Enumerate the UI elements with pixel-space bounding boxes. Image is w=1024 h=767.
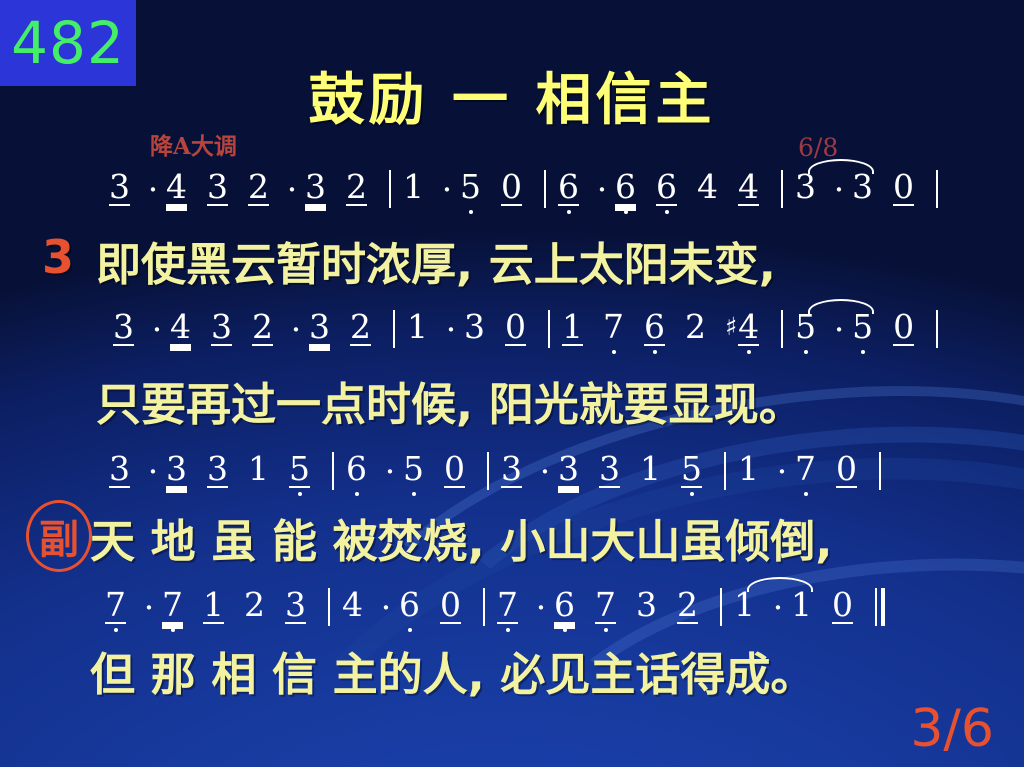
decorative-swoosh xyxy=(206,376,1024,767)
note-glyph: 2 xyxy=(345,170,368,204)
note-glyph: 4 xyxy=(165,170,188,204)
note: 1 xyxy=(733,588,756,622)
note-glyph: 7 xyxy=(794,452,817,486)
note-glyph: 3 xyxy=(206,170,229,204)
note: 3 xyxy=(210,310,233,344)
sharp-accidental: ♯ xyxy=(725,312,737,341)
note-glyph: 1 xyxy=(733,588,756,622)
chorus-marker: 副 xyxy=(26,500,92,572)
note: 5 xyxy=(851,310,874,344)
note: 4 xyxy=(696,170,719,204)
note: 6 xyxy=(614,170,637,204)
note: 6 xyxy=(643,310,666,344)
note: 4 xyxy=(341,588,364,622)
note-glyph: 3 xyxy=(112,310,135,344)
note-glyph: 6 xyxy=(655,170,678,204)
note: 5 xyxy=(459,170,482,204)
augmentation-dot: · xyxy=(288,310,304,349)
note: 1 xyxy=(406,310,429,344)
note: 3 xyxy=(794,170,817,204)
augmentation-dot: · xyxy=(382,452,398,491)
note: 3 xyxy=(308,310,331,344)
note: 7 xyxy=(602,310,625,344)
note-glyph: 5 xyxy=(288,452,311,486)
note-glyph: 0 xyxy=(892,170,915,204)
note-glyph: 7 xyxy=(496,588,519,622)
note-glyph: 3 xyxy=(206,452,229,486)
note: 1 xyxy=(402,170,425,204)
barline xyxy=(724,452,726,490)
note-glyph: 3 xyxy=(598,452,621,486)
note-glyph: 2 xyxy=(251,310,274,344)
hymn-slide: 482 鼓励 一 相信主 降A大调 6/8 3·432·321·506·6644… xyxy=(0,0,1024,767)
note-glyph: 1 xyxy=(247,452,270,486)
lyric-text: 但 那 相 信 主的人, 必见主话得成。 xyxy=(90,648,815,701)
music-system-1: 3·432·321·506·66443·30 xyxy=(0,170,1024,228)
note: 0 xyxy=(443,452,466,486)
note: 1 xyxy=(737,452,760,486)
note: 2 xyxy=(251,310,274,344)
note: 3 xyxy=(463,310,486,344)
note: 6 xyxy=(398,588,421,622)
note-glyph: 6 xyxy=(614,170,637,204)
note: 5 xyxy=(288,452,311,486)
page-title: 鼓励 一 相信主 xyxy=(0,55,1024,136)
note: 7 xyxy=(594,588,617,622)
augmentation-dot: · xyxy=(145,452,161,491)
note: 3 xyxy=(851,170,874,204)
note-glyph: 3 xyxy=(304,170,327,204)
augmentation-dot: · xyxy=(284,170,300,209)
note: 3 xyxy=(165,452,188,486)
note: 3 xyxy=(206,170,229,204)
notation-row: 3·432·321·506·66443·30 xyxy=(0,170,1024,228)
augmentation-dot: · xyxy=(594,170,610,209)
note: 3 xyxy=(108,170,131,204)
lyric-row: 天 地 虽 能 被焚烧, 小山大山虽倾倒, xyxy=(90,505,833,570)
note-glyph: 0 xyxy=(500,170,523,204)
note-glyph: 3 xyxy=(210,310,233,344)
barline xyxy=(389,170,391,208)
note-glyph: 0 xyxy=(892,310,915,344)
note: 5 xyxy=(794,310,817,344)
note-glyph: 3 xyxy=(165,452,188,486)
note: 3 xyxy=(304,170,327,204)
note-glyph: 1 xyxy=(202,588,225,622)
note: 1 xyxy=(561,310,584,344)
note-glyph: 1 xyxy=(790,588,813,622)
note-glyph: 0 xyxy=(439,588,462,622)
note-glyph: 1 xyxy=(639,452,662,486)
augmentation-dot: · xyxy=(831,170,847,209)
note-glyph: 5 xyxy=(794,310,817,344)
note-glyph: 3 xyxy=(794,170,817,204)
barline xyxy=(332,452,334,490)
notation-row: 3·33156·503·33151·70 xyxy=(0,452,1024,510)
note: 1 xyxy=(247,452,270,486)
note: 3 xyxy=(112,310,135,344)
barline xyxy=(548,310,550,348)
note: 1 xyxy=(639,452,662,486)
augmentation-dot: · xyxy=(537,452,553,491)
note-glyph: 3 xyxy=(284,588,307,622)
augmentation-dot: · xyxy=(831,310,847,349)
final-barline xyxy=(875,588,885,626)
note-glyph: 3 xyxy=(500,452,523,486)
note: 2 xyxy=(349,310,372,344)
note-glyph: 5 xyxy=(680,452,703,486)
note: 7 xyxy=(794,452,817,486)
note: 0 xyxy=(439,588,462,622)
note: ♯4 xyxy=(725,310,760,344)
note-glyph: 5 xyxy=(459,170,482,204)
note: 4 xyxy=(737,170,760,204)
note-glyph: 5 xyxy=(402,452,425,486)
note: 0 xyxy=(504,310,527,344)
note-glyph: 2 xyxy=(349,310,372,344)
note: 0 xyxy=(892,310,915,344)
note-glyph: 6 xyxy=(345,452,368,486)
note-glyph: 7 xyxy=(594,588,617,622)
note-glyph: 3 xyxy=(851,170,874,204)
time-signature-label: 6/8 xyxy=(798,133,838,162)
barline xyxy=(487,452,489,490)
note-glyph: 7 xyxy=(161,588,184,622)
note: 4 xyxy=(165,170,188,204)
note-glyph: 1 xyxy=(561,310,584,344)
barline xyxy=(781,170,783,208)
augmentation-dot: · xyxy=(774,452,790,491)
note: 3 xyxy=(598,452,621,486)
note-glyph: 7 xyxy=(104,588,127,622)
note: 0 xyxy=(500,170,523,204)
note-glyph: 3 xyxy=(108,452,131,486)
augmentation-dot: · xyxy=(149,310,165,349)
note-glyph: 4 xyxy=(341,588,364,622)
barline xyxy=(328,588,330,626)
note-glyph: 0 xyxy=(504,310,527,344)
note-glyph: 6 xyxy=(643,310,666,344)
note-glyph: 2 xyxy=(243,588,266,622)
note-glyph: 2 xyxy=(684,310,707,344)
barline xyxy=(879,452,881,490)
note: 6 xyxy=(553,588,576,622)
note: 3 xyxy=(500,452,523,486)
note: 0 xyxy=(835,452,858,486)
lyric-row: 只要再过一点时候, 阳光就要显现。 xyxy=(96,368,804,433)
music-system-3: 3·33156·503·33151·70 xyxy=(0,452,1024,510)
note-glyph: 2 xyxy=(676,588,699,622)
note-glyph: 3 xyxy=(308,310,331,344)
music-system-2: 3·432·321·301762♯45·50 xyxy=(0,310,1024,368)
note: 6 xyxy=(557,170,580,204)
note-glyph: 3 xyxy=(463,310,486,344)
note: 5 xyxy=(402,452,425,486)
lyric-row: 但 那 相 信 主的人, 必见主话得成。 xyxy=(90,638,815,703)
note: 3 xyxy=(206,452,229,486)
note-glyph: 4 xyxy=(696,170,719,204)
note-glyph: 0 xyxy=(443,452,466,486)
note-glyph: 4 xyxy=(737,170,760,204)
note-glyph: 4 xyxy=(737,310,760,344)
note-glyph: 7 xyxy=(602,310,625,344)
note: 2 xyxy=(684,310,707,344)
note: 0 xyxy=(831,588,854,622)
note-glyph: 1 xyxy=(737,452,760,486)
note: 3 xyxy=(284,588,307,622)
note-glyph: 3 xyxy=(557,452,580,486)
note-glyph: 1 xyxy=(402,170,425,204)
barline xyxy=(936,170,938,208)
note: 7 xyxy=(161,588,184,622)
augmentation-dot: · xyxy=(378,588,394,627)
note-glyph: 6 xyxy=(398,588,421,622)
note: 3 xyxy=(557,452,580,486)
lyric-text: 只要再过一点时候, 阳光就要显现。 xyxy=(96,378,804,431)
augmentation-dot: · xyxy=(533,588,549,627)
note: 2 xyxy=(243,588,266,622)
note-glyph: 4 xyxy=(169,310,192,344)
lyric-row: 3 即使黑云暂时浓厚, 云上太阳未变, xyxy=(96,228,776,293)
note-glyph: 5 xyxy=(851,310,874,344)
lyric-text: 天 地 虽 能 被焚烧, 小山大山虽倾倒, xyxy=(90,515,833,568)
note: 6 xyxy=(655,170,678,204)
note: 3 xyxy=(108,452,131,486)
note-glyph: 6 xyxy=(557,170,580,204)
note: 0 xyxy=(892,170,915,204)
note: 1 xyxy=(202,588,225,622)
notation-row: 3·432·321·301762♯45·50 xyxy=(0,310,1024,368)
note: 7 xyxy=(496,588,519,622)
note-glyph: 6 xyxy=(553,588,576,622)
key-signature-label: 降A大调 xyxy=(150,127,237,161)
augmentation-dot: · xyxy=(443,310,459,349)
note-glyph: 0 xyxy=(835,452,858,486)
note: 2 xyxy=(345,170,368,204)
barline xyxy=(781,310,783,348)
note-glyph: 2 xyxy=(247,170,270,204)
lyric-text: 即使黑云暂时浓厚, 云上太阳未变, xyxy=(96,238,776,291)
note-glyph: 1 xyxy=(406,310,429,344)
note: 7 xyxy=(104,588,127,622)
note: 2 xyxy=(247,170,270,204)
note-glyph: 3 xyxy=(108,170,131,204)
augmentation-dot: · xyxy=(770,588,786,627)
verse-number: 3 xyxy=(42,230,74,284)
note: 5 xyxy=(680,452,703,486)
augmentation-dot: · xyxy=(141,588,157,627)
page-indicator: 3/6 xyxy=(910,699,994,759)
augmentation-dot: · xyxy=(439,170,455,209)
note: 2 xyxy=(676,588,699,622)
barline xyxy=(544,170,546,208)
barline xyxy=(720,588,722,626)
note-glyph: 0 xyxy=(831,588,854,622)
barline xyxy=(936,310,938,348)
barline xyxy=(393,310,395,348)
note: 3 xyxy=(635,588,658,622)
note-glyph: 3 xyxy=(635,588,658,622)
note: 4 xyxy=(169,310,192,344)
note: 6 xyxy=(345,452,368,486)
note: 1 xyxy=(790,588,813,622)
augmentation-dot: · xyxy=(145,170,161,209)
barline xyxy=(483,588,485,626)
